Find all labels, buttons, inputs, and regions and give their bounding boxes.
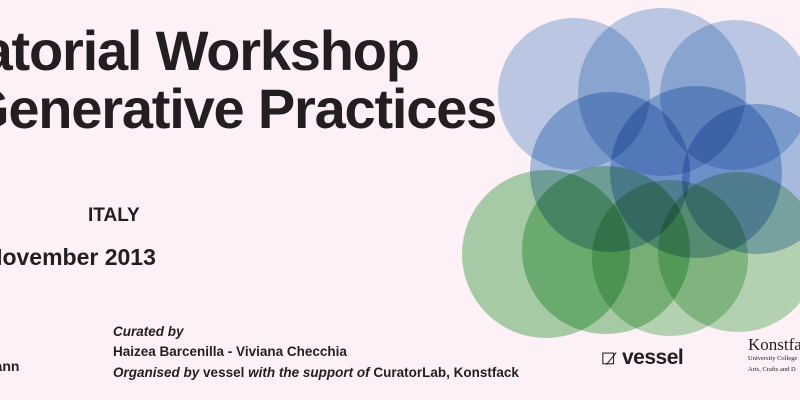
speaker-name-2: Öntmann (0, 356, 19, 376)
curation-credits: Curated by Haizea Barcenilla - Viviana C… (113, 322, 519, 383)
poster-canvas: uratorial Workshop Generative Practices … (0, 0, 800, 400)
title-line-1: uratorial Workshop (0, 22, 688, 80)
support-label: with the support of (248, 365, 369, 380)
venue-city: ITALY (0, 204, 156, 228)
curators-line: Haizea Barcenilla - Viviana Checchia (113, 342, 519, 362)
green-circle (592, 180, 748, 336)
square-slash-icon (602, 351, 617, 366)
curator-names: Haizea Barcenilla - Viviana Checchia (113, 344, 347, 359)
title-line-2: Generative Practices (0, 80, 688, 138)
organised-by-line: Organised by vessel with the support of … (113, 363, 519, 383)
vessel-logo[interactable]: vessel (602, 346, 683, 370)
organiser-name: vessel (203, 365, 244, 380)
konstfack-wordmark: Konstfack (748, 336, 800, 353)
green-circle (658, 172, 800, 332)
konstfack-subtitle-2: Arts, Crafts and D (748, 366, 800, 375)
curated-by-line: Curated by (113, 322, 519, 342)
supporter-names: CuratorLab, Konstfack (373, 365, 519, 380)
curated-by-label: Curated by (113, 324, 184, 339)
blue-circle (682, 104, 800, 254)
konstfack-logo[interactable]: Konstfack University College Arts, Craft… (748, 336, 800, 374)
page-title: uratorial Workshop Generative Practices (0, 22, 688, 137)
venue-block: I ITALY 21st November 2013 (0, 166, 156, 271)
konstfack-subtitle-1: University College (748, 355, 800, 364)
organised-by-label: Organised by (113, 365, 199, 380)
date-rest: November 2013 (0, 244, 156, 270)
speakers-list: Eilat Öntmann (0, 336, 19, 377)
vessel-wordmark: vessel (622, 346, 683, 370)
green-circle (522, 166, 690, 334)
credits-strip: Eilat Öntmann Curated by Haizea Barcenil… (0, 320, 800, 386)
venue-name: I (0, 166, 156, 190)
green-circle (462, 170, 630, 338)
speaker-name-1: Eilat (0, 336, 19, 356)
event-date: 21st November 2013 (0, 244, 156, 271)
